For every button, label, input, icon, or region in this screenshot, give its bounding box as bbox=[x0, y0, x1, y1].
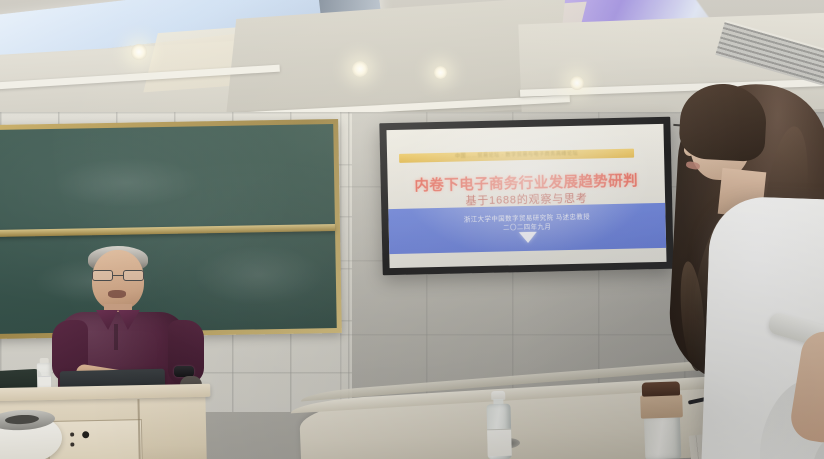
slide-header-banner-text: 中国……贸易论坛 · 数字贸易与电子商务高峰论坛 bbox=[399, 149, 634, 163]
lectern-panel bbox=[48, 419, 143, 459]
chalkboard-divider bbox=[0, 224, 335, 237]
glasses-lens-right bbox=[123, 270, 144, 281]
outlet-hole bbox=[82, 431, 89, 438]
attendee-figure bbox=[668, 70, 824, 459]
projection-screen: 中国……贸易论坛 · 数字贸易与电子商务高峰论坛 内卷下电子商务行业发展趋势研判… bbox=[379, 117, 673, 276]
tape-roll bbox=[0, 412, 63, 459]
presenter-collar bbox=[96, 310, 140, 332]
presenter-mouth bbox=[108, 290, 126, 298]
glasses-bridge bbox=[113, 275, 123, 276]
downlight-icon bbox=[570, 76, 584, 90]
outlet-hole bbox=[70, 433, 74, 437]
downlight-icon bbox=[434, 66, 447, 79]
downlight-icon bbox=[352, 61, 368, 77]
downlight-icon bbox=[131, 44, 147, 60]
down-triangle-icon bbox=[518, 232, 536, 243]
slide-header-banner: 中国……贸易论坛 · 数字贸易与电子商务高峰论坛 bbox=[399, 149, 634, 163]
outlet-hole bbox=[70, 443, 74, 447]
lecture-hall-photo: 中国……贸易论坛 · 数字贸易与电子商务高峰论坛 内卷下电子商务行业发展趋势研判… bbox=[0, 0, 824, 459]
bottle-label bbox=[487, 429, 512, 457]
presentation-slide: 中国……贸易论坛 · 数字贸易与电子商务高峰论坛 内卷下电子商务行业发展趋势研判… bbox=[386, 124, 666, 268]
glasses-lens-left bbox=[92, 270, 113, 281]
chalk-smudge bbox=[52, 156, 203, 209]
slide-footer-band: 浙江大学中国数字贸易研究院 马述忠教授 二〇二四年九月 bbox=[388, 203, 666, 254]
chalk-smudge bbox=[193, 244, 324, 306]
presenter-placket bbox=[114, 324, 118, 350]
glasses-icon bbox=[92, 270, 144, 281]
water-bottle-desk bbox=[486, 391, 512, 459]
